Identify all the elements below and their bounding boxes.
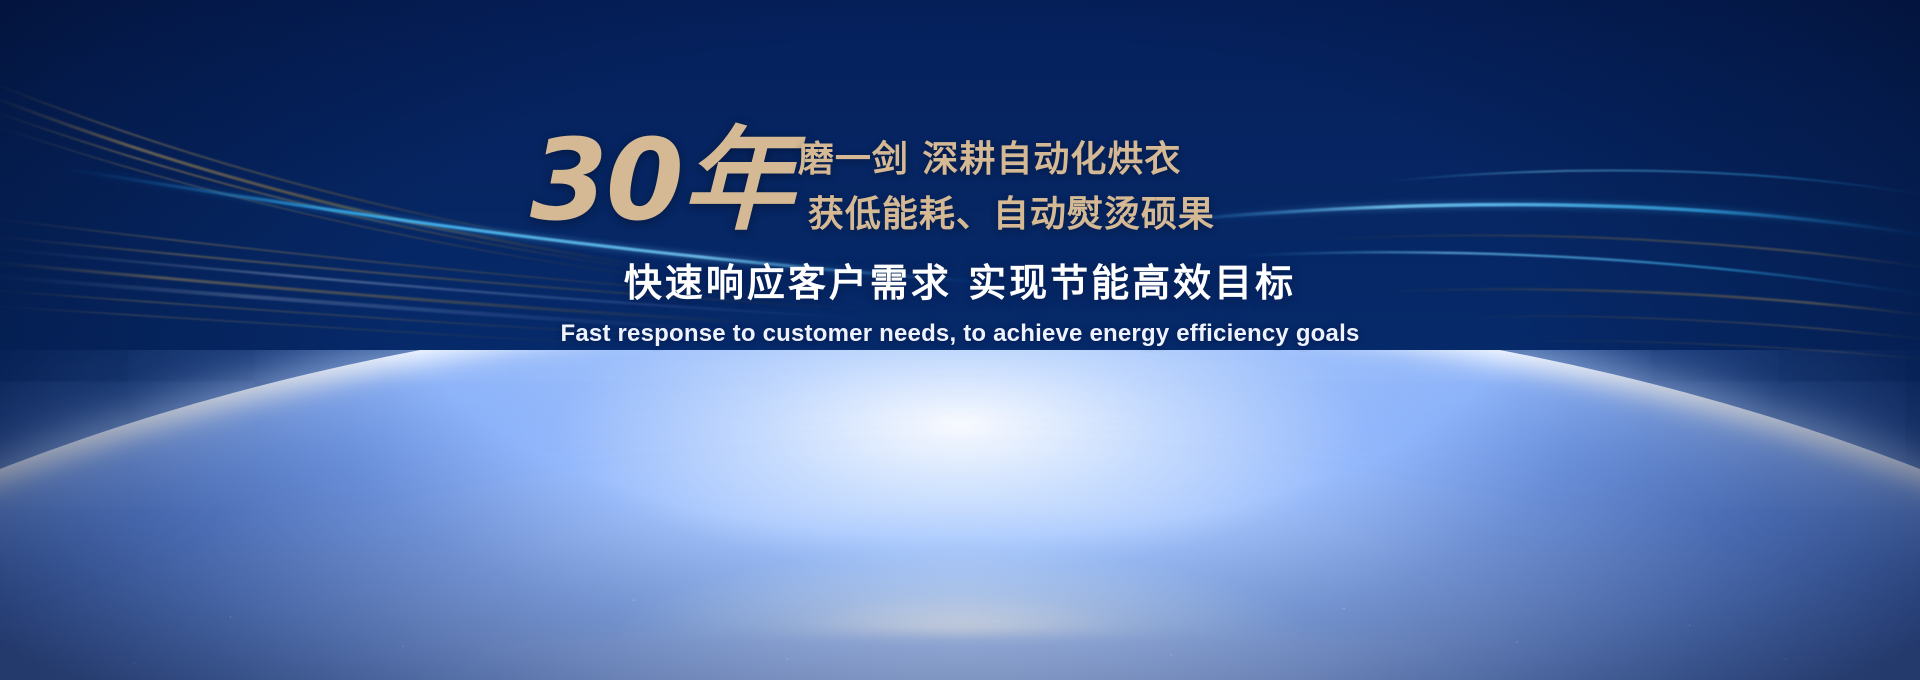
headline-row: 30年 磨一剑 深耕自动化烘衣 获低能耗、自动熨烫硕果	[530, 125, 1390, 242]
gold-slogan-line-1: 磨一剑 深耕自动化烘衣	[798, 133, 1215, 188]
banner-content: 30年 磨一剑 深耕自动化烘衣 获低能耗、自动熨烫硕果 快速响应客户需求 实现节…	[0, 0, 1920, 680]
gold-slogan-line-2: 获低能耗、自动熨烫硕果	[808, 188, 1215, 243]
subheadline-english: Fast response to customer needs, to achi…	[560, 320, 1359, 348]
anniversary-number: 30年	[530, 125, 792, 237]
gold-slogan-block: 磨一剑 深耕自动化烘衣 获低能耗、自动熨烫硕果	[798, 125, 1215, 242]
subheadline-chinese: 快速响应客户需求 实现节能高效目标	[624, 252, 1296, 307]
promo-banner: 30年 磨一剑 深耕自动化烘衣 获低能耗、自动熨烫硕果 快速响应客户需求 实现节…	[0, 0, 1920, 680]
